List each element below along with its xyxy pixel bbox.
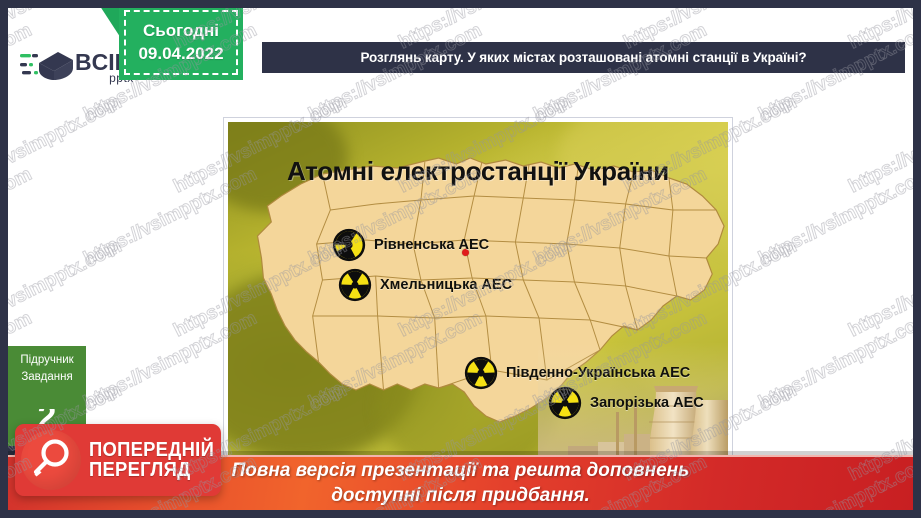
question-header-bar: Розглянь карту. У яких містах розташован… [262, 42, 905, 73]
map-background: Атомні електростанції України [228, 122, 728, 462]
graduation-cap-icon [20, 46, 74, 88]
station-marker-rivne: Рівненська АЕС [332, 228, 489, 262]
station-marker-zaporizhzhia: Запорізька АЕС [548, 386, 704, 420]
station-label: Запорізька АЕС [590, 395, 704, 411]
station-marker-khmelnytskyi: Хмельницька АЕС [338, 268, 512, 302]
station-marker-south-ukraine: Південно-Українська АЕС [464, 356, 690, 390]
date-badge-label: Сьогодні [143, 20, 219, 43]
station-label: Південно-Українська АЕС [506, 365, 690, 381]
preview-badge-text: ПОПЕРЕДНІЙ ПЕРЕГЛЯД [89, 440, 214, 481]
purchase-notice-line2: доступні після придбання. [232, 484, 690, 508]
purchase-notice-line1: Повна версія презентації та решта доповн… [232, 459, 690, 483]
station-label: Хмельницька АЕС [380, 277, 512, 293]
purchase-notice-text: Повна версія презентації та решта доповн… [232, 459, 690, 508]
sidebar-textbook-line2: Завдання [8, 369, 86, 386]
preview-badge-line2: ПЕРЕГЛЯД [89, 460, 214, 480]
date-badge-value: 09.04.2022 [138, 43, 223, 66]
slide-root: Атомні електростанції України [0, 0, 921, 518]
radiation-hazard-icon [464, 356, 498, 390]
map-image: Атомні електростанції України [224, 118, 732, 466]
date-badge: Сьогодні 09.04.2022 [119, 5, 243, 80]
radiation-hazard-icon [332, 228, 366, 262]
brand-logo: BCIM pptx [16, 38, 121, 96]
question-text: Розглянь карту. У яких містах розташован… [360, 50, 806, 65]
radiation-hazard-icon [338, 268, 372, 302]
station-label: Рівненська АЕС [374, 237, 489, 253]
sidebar-textbook-tag: Підручник Завдання [8, 346, 86, 409]
preview-badge: ПОПЕРЕДНІЙ ПЕРЕГЛЯД [15, 424, 221, 496]
map-title: Атомні електростанції України [228, 156, 728, 187]
sidebar-textbook-line1: Підручник [8, 352, 86, 369]
radiation-hazard-icon [548, 386, 582, 420]
slide-canvas: Атомні електростанції України [8, 8, 913, 510]
magnifier-icon [21, 430, 81, 490]
preview-badge-line1: ПОПЕРЕДНІЙ [89, 440, 214, 460]
